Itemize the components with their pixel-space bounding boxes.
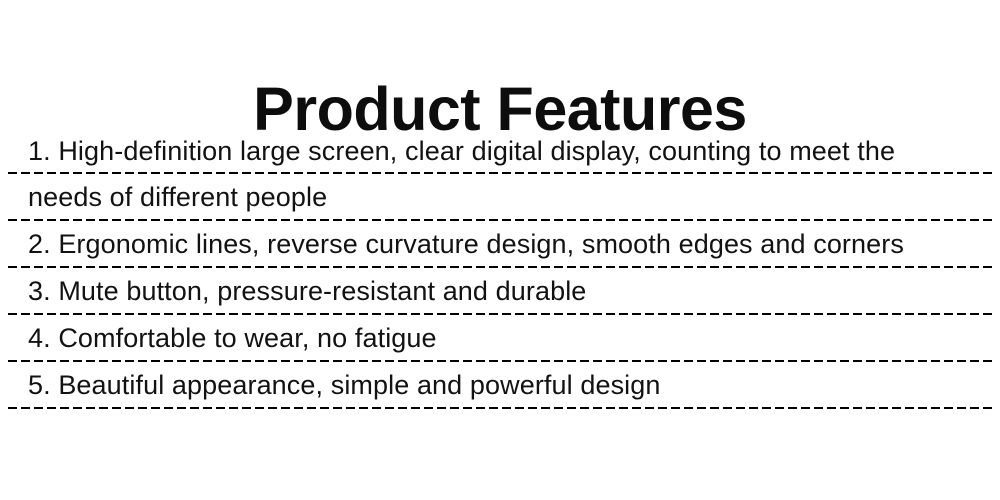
feature-separator-6 xyxy=(8,407,992,409)
feature-item-5-text: 5. Beautiful appearance, simple and powe… xyxy=(8,362,992,407)
feature-item-1: 1. High-definition large screen, clear d… xyxy=(0,128,1000,172)
feature-item-4-text: 4. Comfortable to wear, no fatigue xyxy=(8,315,992,360)
feature-item-1-line2: needs of different people xyxy=(8,174,992,219)
feature-item-3: 3. Mute button, pressure-resistant and d… xyxy=(0,268,1000,313)
feature-item-1-line1: 1. High-definition large screen, clear d… xyxy=(8,128,992,172)
product-features-page: Product Features 1. High-definition larg… xyxy=(0,0,1000,500)
feature-item-4: 4. Comfortable to wear, no fatigue xyxy=(0,315,1000,360)
feature-item-1-continuation: needs of different people xyxy=(0,174,1000,219)
feature-item-5: 5. Beautiful appearance, simple and powe… xyxy=(0,362,1000,407)
feature-item-2: 2. Ergonomic lines, reverse curvature de… xyxy=(0,221,1000,266)
feature-item-3-text: 3. Mute button, pressure-resistant and d… xyxy=(8,268,992,313)
feature-list: 1. High-definition large screen, clear d… xyxy=(0,128,1000,409)
feature-item-2-text: 2. Ergonomic lines, reverse curvature de… xyxy=(8,221,992,266)
